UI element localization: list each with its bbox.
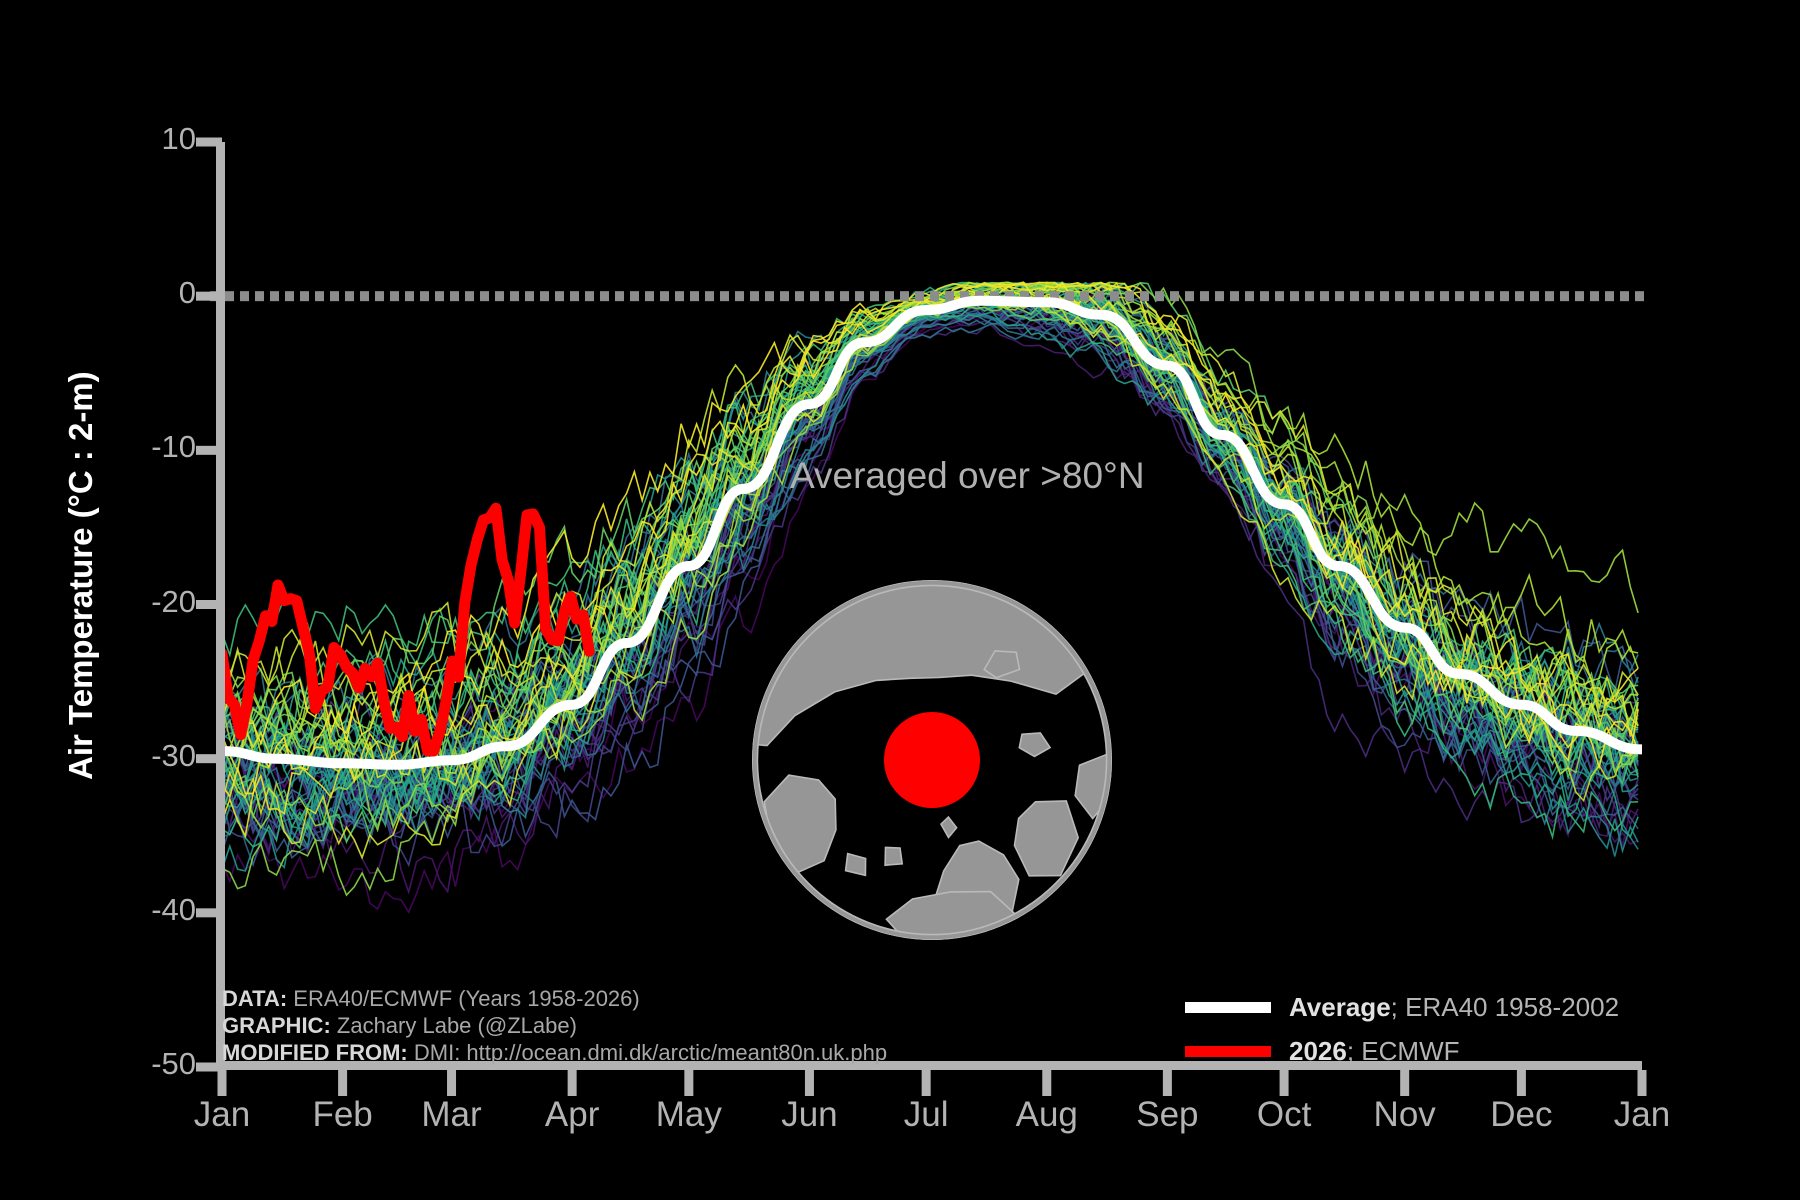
y-tick-label: -30 [126, 738, 196, 774]
legend-item-current: 2026; ECMWF [1185, 1029, 1619, 1073]
legend-item-average: Average; ERA40 1958-2002 [1185, 985, 1619, 1029]
x-tick-label: Sep [1107, 1095, 1227, 1135]
y-tick-label: 0 [126, 275, 196, 311]
x-tick-label: Dec [1461, 1095, 1581, 1135]
figure: DAILY HIGH ARCTIC TEMPERATURE Air Temper… [0, 0, 1800, 1200]
x-tick-label: May [629, 1095, 749, 1135]
legend: Average; ERA40 1958-2002 2026; ECMWF [1185, 985, 1619, 1073]
legend-current-rest: ; ECMWF [1347, 1036, 1460, 1066]
map-landmass [846, 854, 866, 876]
credits-graphic-label: GRAPHIC: [222, 1013, 331, 1038]
credits-data-line: DATA: ERA40/ECMWF (Years 1958-2026) [222, 985, 887, 1012]
region-annotation: Averaged over >80°N [790, 455, 1145, 497]
y-tick-label: 10 [126, 121, 196, 157]
legend-label-current: 2026; ECMWF [1289, 1029, 1460, 1073]
x-tick-label: Apr [512, 1095, 632, 1135]
y-tick-label: -20 [126, 584, 196, 620]
credits-modified-label: MODIFIED FROM: [222, 1040, 408, 1065]
credits-block: DATA: ERA40/ECMWF (Years 1958-2026) GRAP… [222, 985, 887, 1066]
legend-swatch-average [1185, 1002, 1271, 1013]
credits-data-label: DATA: [222, 986, 287, 1011]
y-tick-label: -50 [126, 1046, 196, 1082]
x-tick-label: Oct [1224, 1095, 1344, 1135]
legend-average-bold: Average [1289, 992, 1391, 1022]
x-tick-label: Jun [749, 1095, 869, 1135]
legend-label-average: Average; ERA40 1958-2002 [1289, 985, 1619, 1029]
credits-modified-line: MODIFIED FROM: DMI: http://ocean.dmi.dk/… [222, 1039, 887, 1066]
x-tick-label: Jul [866, 1095, 986, 1135]
legend-average-rest: ; ERA40 1958-2002 [1391, 992, 1619, 1022]
y-axis-title: Air Temperature (°C : 2-m) [62, 371, 100, 780]
x-tick-label: Mar [392, 1095, 512, 1135]
y-tick-label: -10 [126, 429, 196, 465]
credits-graphic-line: GRAPHIC: Zachary Labe (@ZLabe) [222, 1012, 887, 1039]
map-landmass [885, 847, 902, 865]
credits-modified-value: DMI: http://ocean.dmi.dk/arctic/meant80n… [408, 1040, 887, 1065]
credits-graphic-value: Zachary Labe (@ZLabe) [331, 1013, 577, 1038]
x-tick-label: Aug [987, 1095, 1107, 1135]
legend-current-bold: 2026 [1289, 1036, 1347, 1066]
pole-highlight-marker [884, 712, 980, 808]
y-tick-label: -40 [126, 892, 196, 928]
legend-swatch-current [1185, 1046, 1271, 1057]
x-tick-label: Jan [1582, 1095, 1702, 1135]
credits-data-value: ERA40/ECMWF (Years 1958-2026) [287, 986, 640, 1011]
x-tick-label: Feb [283, 1095, 403, 1135]
x-tick-label: Jan [162, 1095, 282, 1135]
x-tick-label: Nov [1345, 1095, 1465, 1135]
